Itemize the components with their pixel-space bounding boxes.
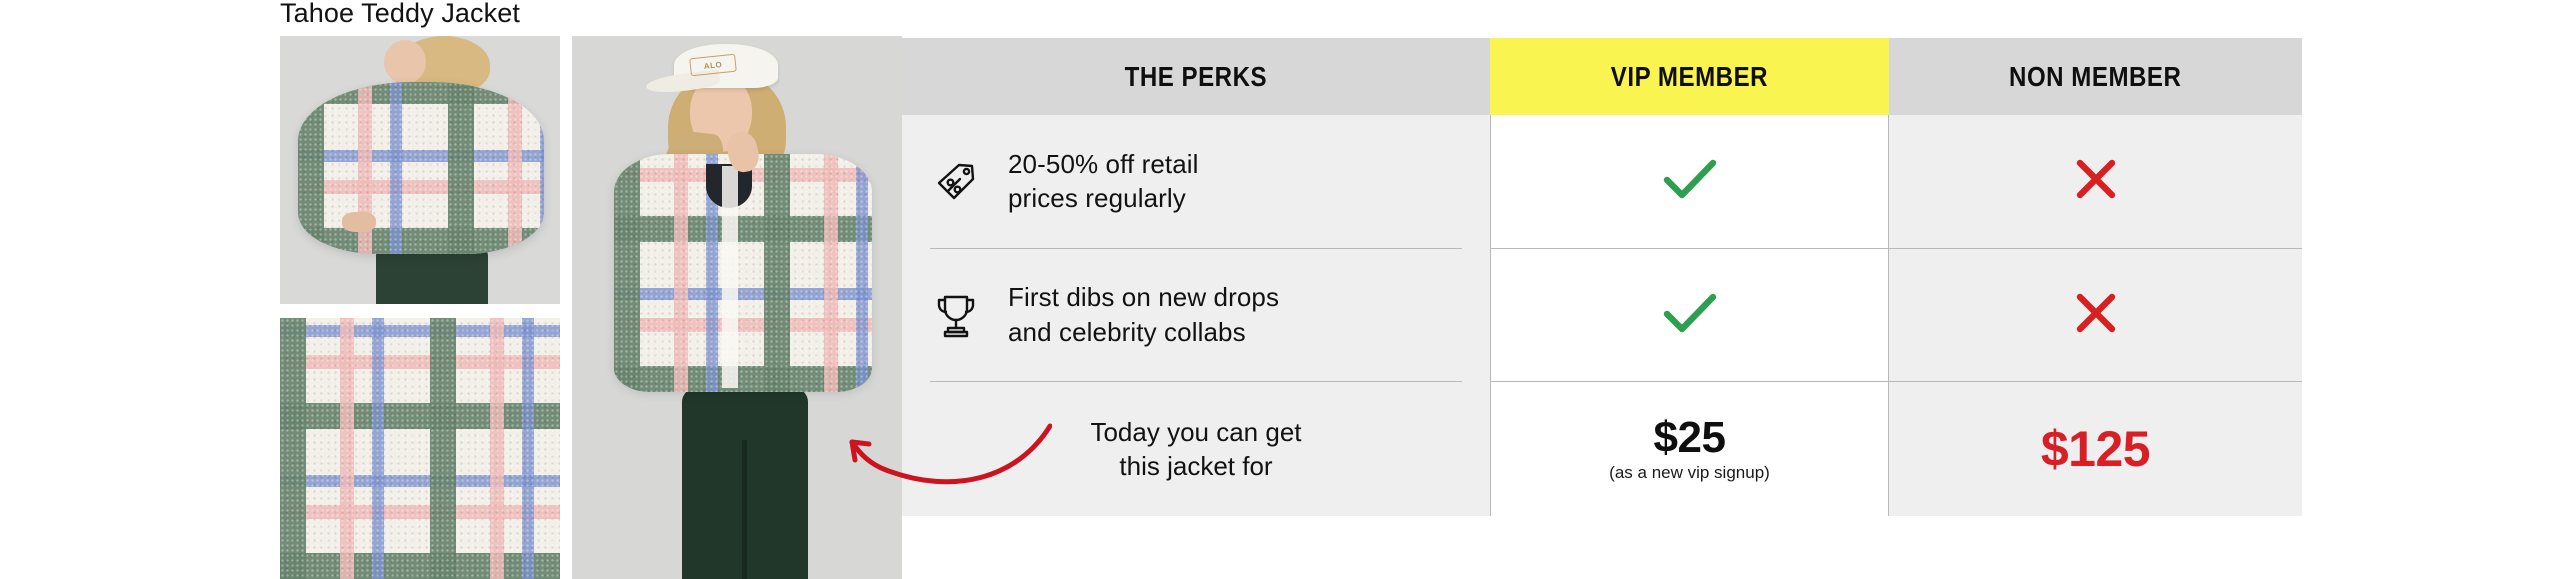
jacket-body [298,82,544,254]
jacket-placket [722,166,738,388]
cell-vip-value [1490,115,1889,249]
cell-vip-value [1490,249,1889,383]
product-gallery [280,36,560,579]
cell-perk-description: First dibs on new dropsand celebrity col… [902,249,1490,383]
table-header-row: THE PERKS VIP MEMBER NON MEMBER [902,38,2302,115]
column-header-non-member: NON MEMBER [1889,38,2302,115]
vip-price-note: (as a new vip signup) [1609,463,1770,483]
perk-label: First dibs on new dropsand celebrity col… [1008,280,1279,349]
cell-vip-price: $25 (as a new vip signup) [1490,382,1889,516]
perk-label: 20-50% off retailprices regularly [1008,147,1199,216]
column-header-vip-member: VIP MEMBER [1490,38,1889,115]
model-neck [384,40,426,84]
perk-label: Today you can getthis jacket for [930,415,1462,484]
cell-non-member-value [1889,115,2302,249]
model-pants-seam [742,440,747,579]
cross-icon [2073,156,2119,207]
table-row: 20-50% off retailprices regularly [902,115,2302,249]
cell-perk-description: 20-50% off retailprices regularly [902,115,1490,249]
column-header-non-label: NON MEMBER [2009,61,2181,93]
price-tag-percent-icon [930,155,982,207]
membership-comparison-table: THE PERKS VIP MEMBER NON MEMBER [902,38,2302,516]
fabric-swatch [280,318,560,579]
page-title: Tahoe Teddy Jacket [280,0,520,30]
model-pants [376,246,488,304]
non-member-price: $125 [2041,420,2150,478]
cell-non-member-price: $125 [1889,382,2302,516]
trophy-icon [930,289,982,341]
cross-icon [2073,290,2119,341]
check-icon [1661,290,1719,341]
gallery-photo-fabric-detail[interactable] [280,318,560,579]
column-header-perks: THE PERKS [902,38,1490,115]
table-body: 20-50% off retailprices regularly [902,115,2302,516]
cell-non-member-value [1889,249,2302,383]
gallery-photo-jacket-back-view[interactable] [280,36,560,304]
check-icon [1661,156,1719,207]
column-header-vip-label: VIP MEMBER [1611,61,1768,93]
model-hand [342,212,376,232]
table-row: Today you can getthis jacket for $25 (as… [902,382,2302,516]
sherpa-texture [298,82,544,254]
sherpa-texture [280,318,560,579]
column-header-perks-label: THE PERKS [1125,61,1267,93]
table-row: First dibs on new dropsand celebrity col… [902,249,2302,383]
cell-perk-description: Today you can getthis jacket for [902,382,1490,516]
vip-price: $25 [1654,415,1726,461]
gallery-photo-model-front-view[interactable]: ALO [572,36,902,579]
